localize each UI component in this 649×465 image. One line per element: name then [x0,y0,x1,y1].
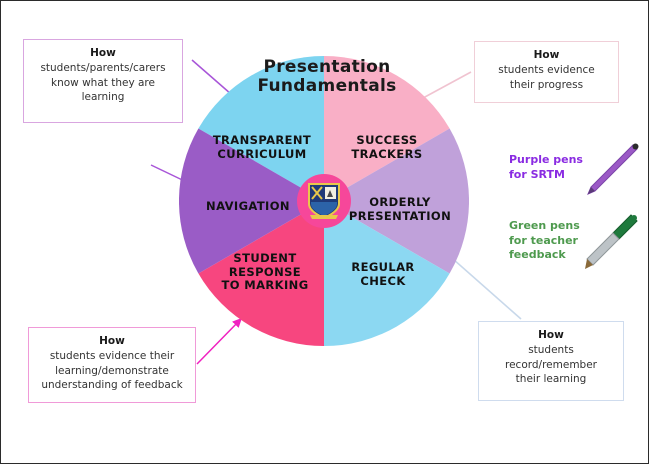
callout-body: students evidence their learning/demonst… [35,349,189,392]
callout-heading: How [30,46,176,60]
crest-shield-icon [307,182,341,220]
callout-top-left: How students/parents/carers know what th… [23,39,183,123]
callout-heading: How [481,48,612,62]
legend-green-pens-label: Green pens for teacher feedback [509,219,580,263]
purple-pen-icon [579,141,641,199]
presentation-fundamentals-wheel: Presentation Fundamentals TRANSPARENT CU… [179,56,469,346]
callout-body: students/parents/carers know what they a… [30,61,176,104]
callout-body: students record/remember their learning [485,343,617,386]
callout-top-right: How students evidence their progress [474,41,619,103]
diagram-canvas: Presentation Fundamentals TRANSPARENT CU… [0,0,649,464]
callout-bottom-right: How students record/remember their learn… [478,321,624,401]
callout-heading: How [485,328,617,342]
callout-heading: How [35,334,189,348]
callout-bottom-left: How students evidence their learning/dem… [28,327,196,403]
callout-body: students evidence their progress [481,63,612,92]
legend-purple-pens-label: Purple pens for SRTM [509,153,583,182]
school-crest-logo [297,174,351,228]
green-pen-icon [579,211,641,273]
